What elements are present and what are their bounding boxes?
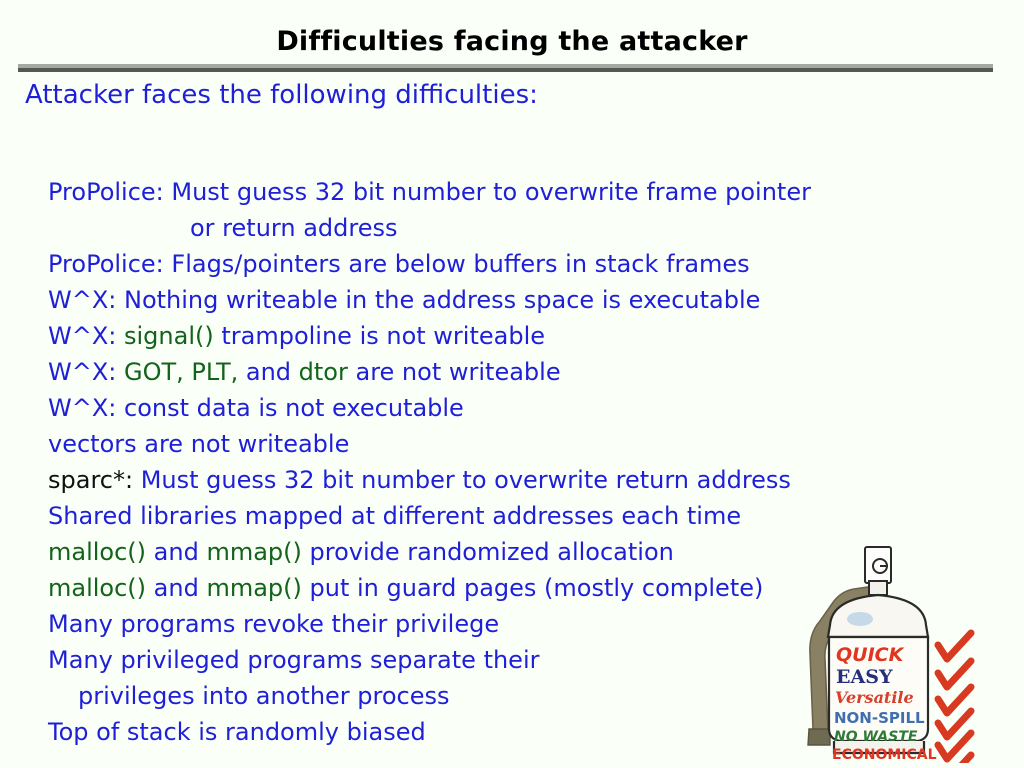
bullet-segment: and <box>146 574 206 602</box>
bullet-segment: put in guard pages (mostly complete) <box>302 574 763 602</box>
bullet-malloc-mmap-randomized: malloc() and mmap() provide randomized a… <box>48 540 674 564</box>
bullet-segment: W^X: Nothing writeable in the address sp… <box>48 286 760 314</box>
bullet-segment: malloc() <box>48 574 146 602</box>
spray-can-illustration: QUICK EASY Versatile NON-SPILL NO WASTE … <box>772 533 1024 763</box>
bullet-segment: W^X: const data is not executable <box>48 394 464 422</box>
cap-highlight <box>847 612 873 626</box>
title-divider <box>18 64 993 72</box>
bullet-wx-got-plt-dtor: W^X: GOT, PLT, and dtor are not writeabl… <box>48 360 561 384</box>
bullet-propolice-guess-32bit-cont: or return address <box>190 216 397 240</box>
bullet-segment: sparc*: <box>48 466 133 494</box>
bullet-segment: vectors are not writeable <box>48 430 349 458</box>
can-label-economical: ECONOMICAL <box>832 747 937 763</box>
bullet-segment: ProPolice: Must guess 32 bit number to o… <box>48 178 811 206</box>
bullet-shared-libraries-mapped: Shared libraries mapped at different add… <box>48 504 741 528</box>
bullet-segment: Must guess 32 bit number to overwrite re… <box>133 466 791 494</box>
bullet-segment: ProPolice: Flags/pointers are below buff… <box>48 250 750 278</box>
can-label-versatile: Versatile <box>835 688 914 707</box>
bullet-segment: W^X: <box>48 358 124 386</box>
bullet-segment: Shared libraries mapped at different add… <box>48 502 741 530</box>
bullet-segment: GOT, PLT, <box>124 358 238 386</box>
bullet-wx-nothing-writeable: W^X: Nothing writeable in the address sp… <box>48 288 760 312</box>
nozzle-stem <box>869 581 887 595</box>
divider-dark-band <box>18 68 993 72</box>
can-label-non-spill: NON-SPILL <box>834 709 925 727</box>
page-title: Difficulties facing the attacker <box>0 26 1024 57</box>
bullet-segment: W^X: <box>48 322 124 350</box>
bullet-wx-const-data: W^X: const data is not executable <box>48 396 464 420</box>
bullet-segment: signal() <box>124 322 214 350</box>
bullet-segment: Top of stack is randomly biased <box>48 718 426 746</box>
checkmark-icon <box>938 633 971 659</box>
bullet-privileged-programs-separate-cont: privileges into another process <box>78 684 450 708</box>
bullet-programs-revoke-privilege: Many programs revoke their privilege <box>48 612 499 636</box>
can-label-easy: EASY <box>836 666 893 688</box>
bullet-segment: privileges into another process <box>78 682 450 710</box>
bullet-propolice-guess-32bit: ProPolice: Must guess 32 bit number to o… <box>48 180 811 204</box>
bullet-segment: provide randomized allocation <box>302 538 674 566</box>
bullet-malloc-mmap-guard-pages: malloc() and mmap() put in guard pages (… <box>48 576 763 600</box>
checkmark-group <box>938 633 971 763</box>
lead-statement: Attacker faces the following difficultie… <box>25 82 538 108</box>
checkmark-icon <box>938 687 971 713</box>
bullet-segment: malloc() <box>48 538 146 566</box>
bullet-segment: mmap() <box>206 538 301 566</box>
bullet-vectors-not-writeable: vectors are not writeable <box>48 432 349 456</box>
bullet-segment: are not writeable <box>348 358 561 386</box>
can-label-quick: QUICK <box>836 644 905 666</box>
checkmark-icon <box>938 711 971 737</box>
bullet-wx-signal-trampoline: W^X: signal() trampoline is not writeabl… <box>48 324 545 348</box>
bullet-segment: Many programs revoke their privilege <box>48 610 499 638</box>
bullet-segment: mmap() <box>206 574 301 602</box>
bullet-segment: Many privileged programs separate their <box>48 646 539 674</box>
bullet-sparc-guess-32bit: sparc*: Must guess 32 bit number to over… <box>48 468 791 492</box>
checkmark-icon <box>938 661 971 687</box>
bullet-segment: and <box>146 538 206 566</box>
bullet-segment: trampoline is not writeable <box>214 322 545 350</box>
bullet-top-of-stack-biased: Top of stack is randomly biased <box>48 720 426 744</box>
bullet-propolice-flags-pointers: ProPolice: Flags/pointers are below buff… <box>48 252 750 276</box>
arm-base <box>808 729 830 745</box>
can-label-no-waste: NO WASTE <box>834 729 918 745</box>
bullet-privileged-programs-separate: Many privileged programs separate their <box>48 648 539 672</box>
bullet-segment: or return address <box>190 214 397 242</box>
bullet-segment: dtor <box>299 358 348 386</box>
bullet-segment: and <box>238 358 298 386</box>
